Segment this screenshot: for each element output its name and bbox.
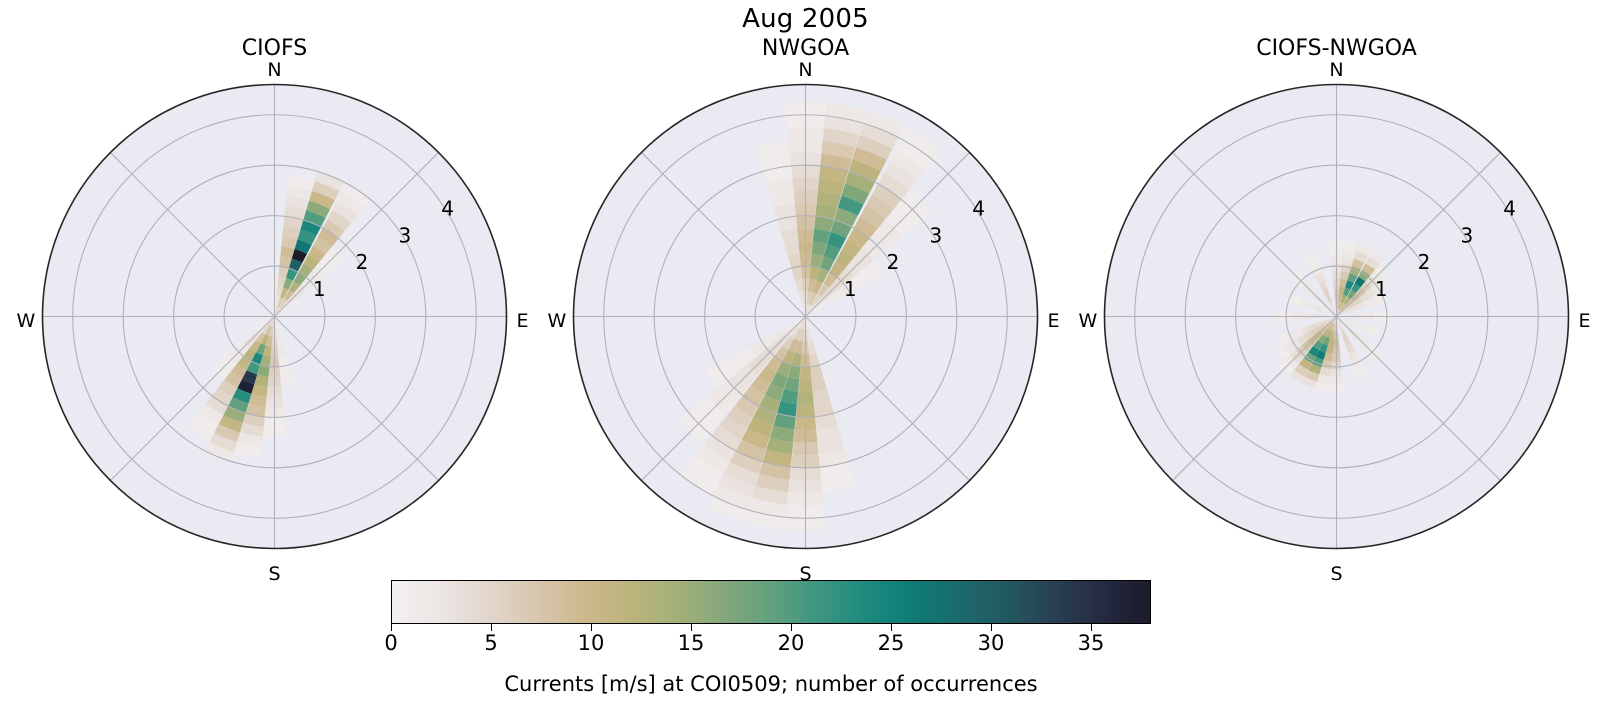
radial-tick-label: 1 (313, 277, 326, 301)
polar-grid (1105, 85, 1569, 549)
colorbar-gradient (391, 580, 1151, 624)
cardinal-label-s: S (1330, 563, 1342, 585)
colorbar-ticks: 05101520253035 (391, 624, 1151, 658)
panel-title-nwgoa: NWGOA (537, 36, 1074, 61)
panel-ciofs-nwgoa: CIOFS-NWGOA 1234NSEW (1068, 36, 1605, 581)
panel-title-ciofs-nwgoa: CIOFS-NWGOA (1068, 36, 1605, 61)
polar-axes-ciofs-nwgoa[interactable]: 1234NSEW (1068, 62, 1605, 581)
radial-tick-label: 3 (398, 223, 411, 247)
colorbar-tick-mark (391, 624, 392, 631)
cardinal-label-n: N (798, 59, 812, 81)
polar-axes-nwgoa[interactable]: 1234NSEW (537, 62, 1074, 581)
colorbar-tick-label: 0 (384, 631, 397, 655)
colorbar-tick-label: 25 (878, 631, 905, 655)
colorbar-tick-label: 35 (1078, 631, 1105, 655)
radial-tick-label: 4 (1503, 197, 1516, 221)
radial-tick-label: 1 (1375, 277, 1388, 301)
panel-nwgoa: NWGOA 1234NSEW (537, 36, 1074, 581)
radial-tick-label: 2 (356, 250, 369, 274)
polar-grid (574, 85, 1038, 549)
panel-title-ciofs: CIOFS (6, 36, 543, 61)
cardinal-label-e: E (517, 310, 529, 332)
cardinal-label-w: W (1079, 310, 1098, 332)
radial-tick-label: 2 (887, 250, 900, 274)
colorbar-tick-mark (891, 624, 892, 631)
colorbar-tick-label: 20 (778, 631, 805, 655)
figure-canvas: Aug 2005 CIOFS 1234NSEW NWGOA 1234NSEW C… (0, 0, 1611, 724)
radial-tick-label: 4 (441, 197, 454, 221)
radial-tick-label: 1 (844, 277, 857, 301)
cardinal-label-w: W (548, 310, 567, 332)
radial-tick-label: 4 (972, 197, 985, 221)
figure-suptitle: Aug 2005 (0, 4, 1611, 34)
polar-plot-svg: 1234 (6, 62, 543, 581)
cardinal-label-e: E (1579, 310, 1591, 332)
radial-tick-label: 2 (1418, 250, 1431, 274)
colorbar-tick-label: 30 (978, 631, 1005, 655)
polar-axes-ciofs[interactable]: 1234NSEW (6, 62, 543, 581)
panel-ciofs: CIOFS 1234NSEW (6, 36, 543, 581)
colorbar-tick-label: 5 (484, 631, 497, 655)
cardinal-label-n: N (1329, 59, 1343, 81)
colorbar-tick-mark (991, 624, 992, 631)
colorbar-tick-mark (491, 624, 492, 631)
colorbar-tick-mark (691, 624, 692, 631)
colorbar-tick-mark (1091, 624, 1092, 631)
colorbar-tick-mark (591, 624, 592, 631)
radial-tick-label: 3 (1460, 223, 1473, 247)
polar-plot-svg: 1234 (537, 62, 1074, 581)
cardinal-label-w: W (17, 310, 36, 332)
cardinal-label-n: N (267, 59, 281, 81)
colorbar[interactable]: 05101520253035 (391, 580, 1151, 624)
colorbar-tick-mark (791, 624, 792, 631)
polar-plot-svg: 1234 (1068, 62, 1605, 581)
polar-grid (43, 85, 507, 549)
colorbar-caption: Currents [m/s] at COI0509; number of occ… (391, 672, 1151, 696)
cardinal-label-s: S (268, 563, 280, 585)
radial-tick-label: 3 (929, 223, 942, 247)
colorbar-tick-label: 15 (678, 631, 705, 655)
colorbar-tick-label: 10 (578, 631, 605, 655)
cardinal-label-e: E (1048, 310, 1060, 332)
